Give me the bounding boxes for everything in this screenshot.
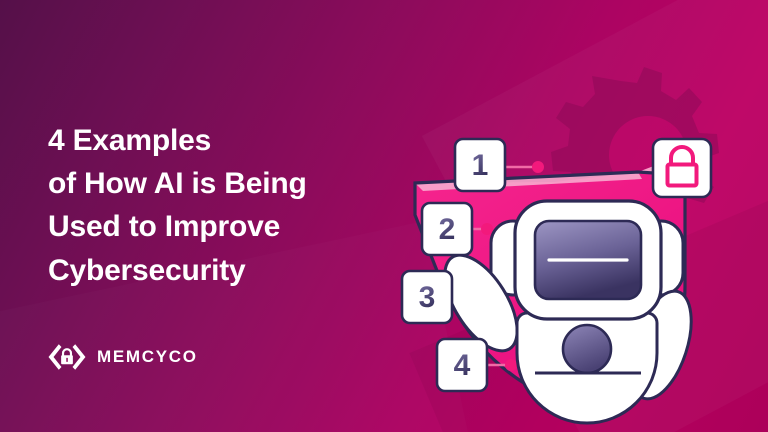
lock-badge	[653, 139, 711, 197]
padlock-in-chevrons-icon	[48, 341, 86, 373]
page-title: 4 Examples of How AI is Being Used to Im…	[48, 119, 418, 292]
banner-canvas: 4 Examples of How AI is Being Used to Im…	[0, 0, 768, 432]
badge-1-label: 1	[472, 149, 489, 182]
ai-robot-shield-illustration: 1 2 3 4	[395, 55, 768, 432]
badge-4: 4	[437, 339, 487, 391]
badge-4-label: 4	[454, 349, 471, 382]
badge-2-label: 2	[439, 213, 456, 246]
logo: MEMCYCO	[48, 341, 198, 373]
badge-1: 1	[455, 139, 505, 191]
logo-wordmark: MEMCYCO	[97, 347, 198, 367]
badge-3-label: 3	[419, 281, 436, 314]
badge-2: 2	[422, 203, 472, 255]
badge-3: 3	[402, 271, 452, 323]
